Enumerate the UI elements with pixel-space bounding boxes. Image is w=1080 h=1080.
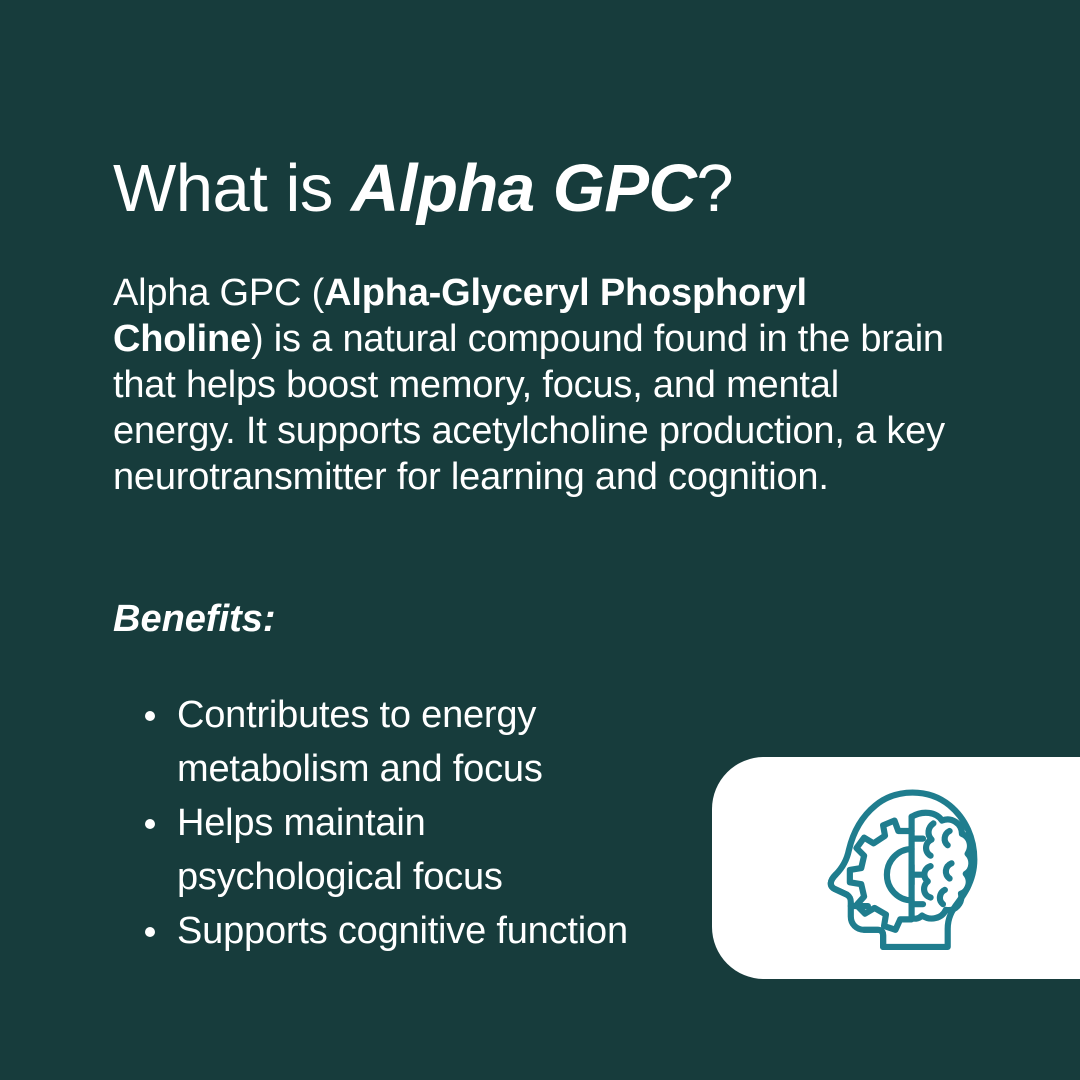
list-item: Contributes to energy metabolism and foc… (140, 688, 660, 796)
brain-fold-4 (946, 863, 952, 878)
bullet-dot-icon (145, 711, 155, 721)
brain-fold-5 (940, 890, 945, 904)
title-suffix: ? (696, 151, 733, 226)
title-emphasis: Alpha GPC (351, 151, 696, 226)
bullet-dot-icon (145, 927, 155, 937)
body-part-1: Alpha GPC ( (113, 272, 324, 314)
list-item-label: Contributes to energy metabolism and foc… (177, 694, 543, 790)
bullet-dot-icon (145, 819, 155, 829)
page-title: What is Alpha GPC? (113, 149, 1013, 229)
list-item: Helps maintain psychological focus (140, 796, 660, 904)
head-brain-gear-icon (809, 774, 999, 964)
nose-detail (831, 875, 847, 895)
icon-card (712, 757, 1080, 979)
list-item-label: Supports cognitive function (177, 910, 628, 952)
brain-fold-1 (926, 823, 933, 855)
title-prefix: What is (113, 151, 351, 226)
gear-inner-circle (887, 849, 912, 900)
benefits-heading: Benefits: (113, 596, 276, 642)
list-item-label: Helps maintain psychological focus (177, 802, 503, 898)
benefits-list: Contributes to energy metabolism and foc… (140, 688, 660, 958)
head-brain-gear-icon-svg (809, 774, 999, 964)
body-paragraph: Alpha GPC (Alpha-Glyceryl Phosphoryl Cho… (113, 270, 961, 500)
brain-fold-2 (945, 831, 950, 845)
list-item: Supports cognitive function (140, 904, 660, 958)
slide-canvas: What is Alpha GPC? Alpha GPC (Alpha-Glyc… (0, 0, 1080, 1080)
jaw-detail (864, 930, 883, 947)
gear-outline (850, 821, 912, 930)
brain-fold-3 (924, 866, 931, 897)
